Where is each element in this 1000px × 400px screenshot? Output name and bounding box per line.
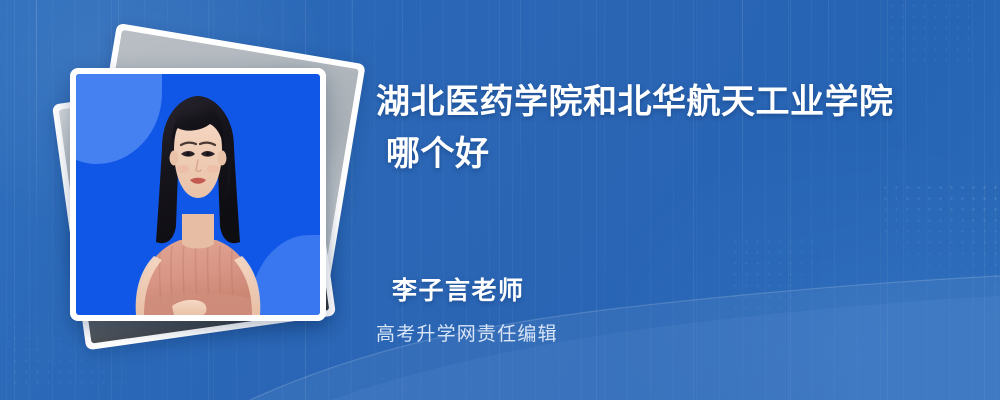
photo-card-front bbox=[70, 68, 326, 321]
author-role: 高考升学网责任编辑 bbox=[376, 319, 558, 346]
portrait-illustration bbox=[76, 74, 320, 315]
photo-card-stack bbox=[40, 30, 360, 370]
page-title: 湖北医药学院和北华航天工业学院 哪个好 bbox=[376, 76, 956, 180]
article-cover-banner: 湖北医药学院和北华航天工业学院 哪个好 李子言老师 高考升学网责任编辑 bbox=[0, 0, 1000, 400]
portrait-photo bbox=[76, 74, 320, 315]
cover-text-column: 湖北医药学院和北华航天工业学院 哪个好 李子言老师 高考升学网责任编辑 bbox=[376, 0, 976, 400]
author-name: 李子言老师 bbox=[392, 271, 525, 307]
